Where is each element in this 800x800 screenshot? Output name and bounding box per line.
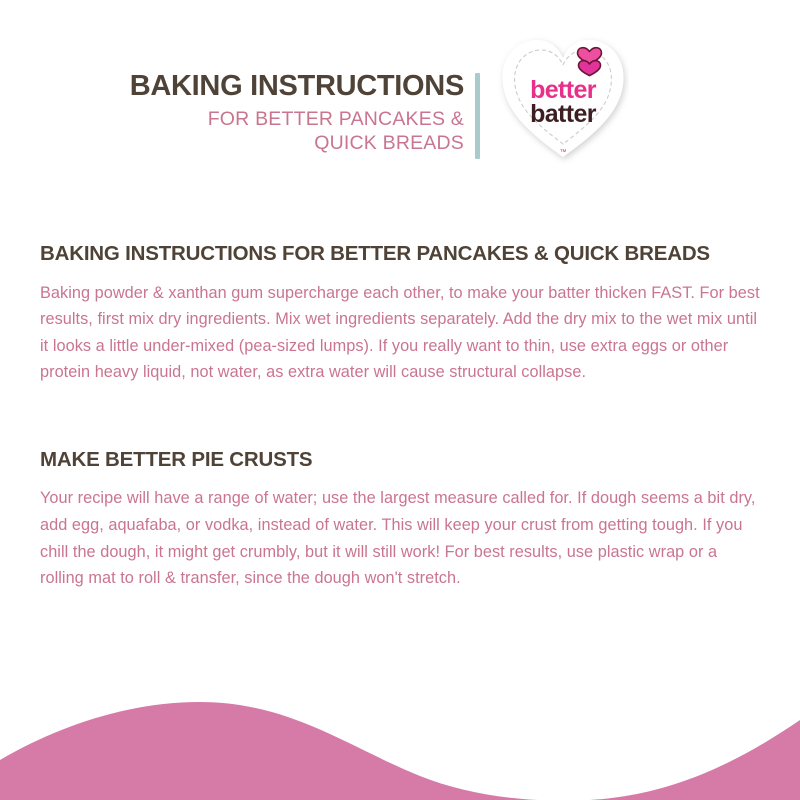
section-heading: BAKING INSTRUCTIONS FOR BETTER PANCAKES …	[40, 242, 762, 266]
main-content: BAKING INSTRUCTIONS FOR BETTER PANCAKES …	[40, 242, 762, 622]
section-pie-crusts: MAKE BETTER PIE CRUSTS Your recipe will …	[40, 448, 762, 592]
section-baking-instructions: BAKING INSTRUCTIONS FOR BETTER PANCAKES …	[40, 242, 762, 386]
wave-shape	[0, 702, 800, 800]
page-subtitle-line-2: QUICK BREADS	[104, 131, 464, 155]
header-divider	[475, 73, 480, 159]
page-header: BAKING INSTRUCTIONS FOR BETTER PANCAKES …	[0, 0, 800, 190]
page-title: BAKING INSTRUCTIONS	[104, 72, 464, 101]
better-batter-logo: better batter ™	[497, 28, 629, 164]
section-heading: MAKE BETTER PIE CRUSTS	[40, 448, 762, 472]
section-body: Baking powder & xanthan gum supercharge …	[40, 280, 762, 386]
page-subtitle-line-1: FOR BETTER PANCAKES &	[104, 107, 464, 131]
logo-word-batter: batter	[530, 100, 597, 128]
logo-trademark: ™	[560, 149, 567, 156]
section-body: Your recipe will have a range of water; …	[40, 485, 762, 591]
page-subtitle: FOR BETTER PANCAKES & QUICK BREADS	[104, 107, 464, 156]
header-text-block: BAKING INSTRUCTIONS FOR BETTER PANCAKES …	[104, 72, 464, 156]
section-spacer	[40, 416, 762, 448]
bottom-wave-decoration	[0, 670, 800, 800]
